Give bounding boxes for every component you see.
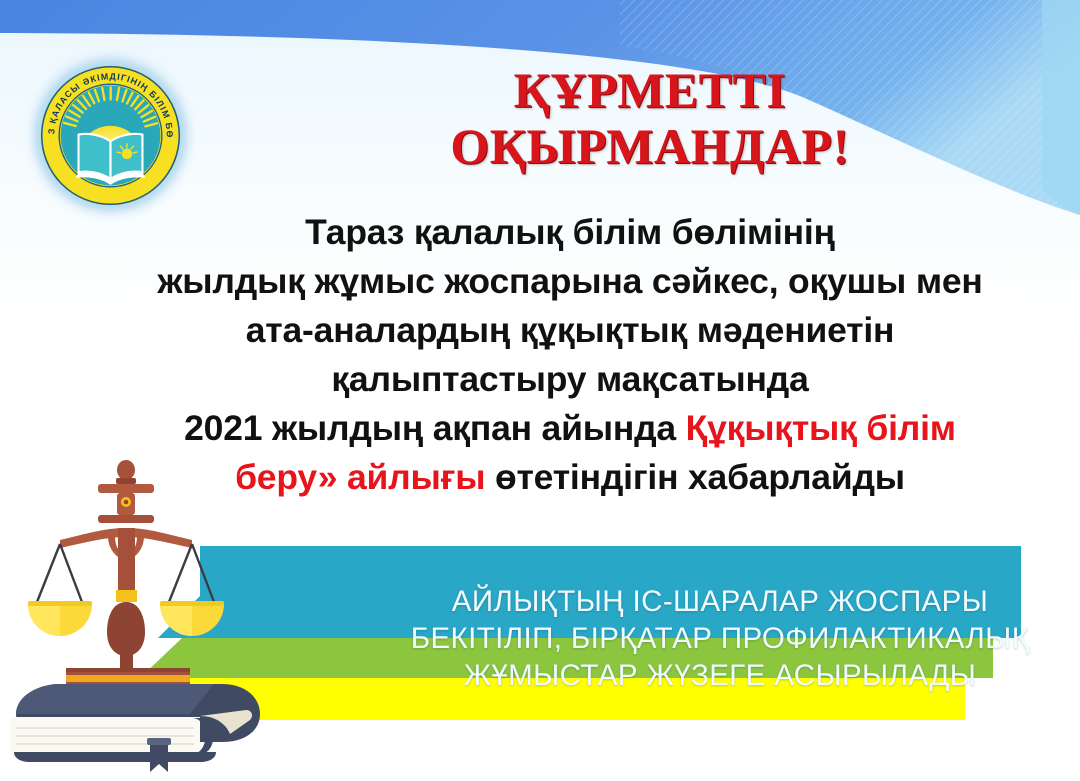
body-line-2: жылдық жұмыс жоспарына сәйкес, оқушы мен <box>70 257 1070 306</box>
education-department-emblem-logo: ТАРАЗ ҚАЛАСЫ ӘКІМДІГІНІҢ БІЛІМ БӨЛІМІ <box>33 58 188 213</box>
scales-of-justice-and-book-illustration <box>4 452 304 762</box>
body-line-1: Тараз қалалық білім бөлімінің <box>70 208 1070 257</box>
body-line-5: 2021 жылдың ақпан айында Құқықтық білім <box>70 404 1070 453</box>
bottom-banner-text: АЙЛЫҚТЫҢ ІС-ШАРАЛАР ЖОСПАРЫ БЕКІТІЛІП, Б… <box>380 583 1060 694</box>
body-line-5-highlight: Құқықтық білім <box>686 408 956 448</box>
body-line-4: қалыптастыру мақсатында <box>70 355 1070 404</box>
poster-canvas: ТАРАЗ ҚАЛАСЫ ӘКІМДІГІНІҢ БІЛІМ БӨЛІМІ ҚҰ… <box>0 0 1080 781</box>
headline-line-1: ҚҰРМЕТТІ <box>300 62 1000 118</box>
banner-line-3: ЖҰМЫСТАР ЖҮЗЕГЕ АСЫРЫЛАДЫ <box>380 657 1060 694</box>
body-line-5-prefix: 2021 жылдың ақпан айында <box>184 408 686 448</box>
body-line-3: ата-аналардың құқықтық мәдениетін <box>70 306 1070 355</box>
banner-line-1: АЙЛЫҚТЫҢ ІС-ШАРАЛАР ЖОСПАРЫ <box>380 583 1060 620</box>
headline-line-2: ОҚЫРМАНДАР! <box>300 118 1000 174</box>
poster-headline: ҚҰРМЕТТІ ОҚЫРМАНДАР! <box>300 62 1000 174</box>
banner-line-2: БЕКІТІЛІП, БІРҚАТАР ПРОФИЛАКТИКАЛЫҚ <box>380 620 1060 657</box>
body-line-6-suffix: өтетіндігін хабарлайды <box>485 457 905 497</box>
